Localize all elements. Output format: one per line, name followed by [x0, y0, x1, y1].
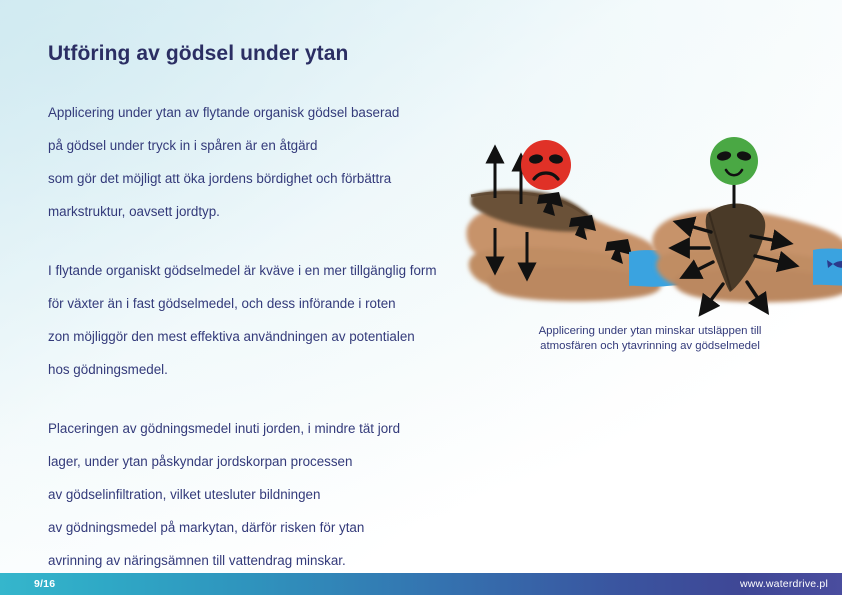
paragraph-1: Applicering under ytan av flytande organ… — [48, 96, 478, 228]
paragraph-line: Placeringen av gödningsmedel inuti jorde… — [48, 412, 478, 445]
paragraph-3: Placeringen av gödningsmedel inuti jorde… — [48, 412, 478, 577]
paragraph-line: på gödsel under tryck in i spåren är en … — [48, 129, 478, 162]
footer-website-link[interactable]: www.waterdrive.pl — [740, 578, 828, 590]
figure-caption: Applicering under ytan minskar utsläppen… — [470, 324, 830, 353]
page-title: Utföring av gödsel under ytan — [48, 42, 348, 66]
paragraph-line: som gör det möjligt att öka jordens börd… — [48, 162, 478, 195]
sad-face-icon — [521, 140, 571, 190]
caption-line-1: Applicering under ytan minskar utsläppen… — [470, 324, 830, 339]
paragraph-line: markstruktur, oavsett jordtyp. — [48, 195, 478, 228]
slide: Utföring av gödsel under ytan Applicerin… — [0, 0, 842, 595]
water-body-right — [813, 247, 842, 286]
paragraph-line: zon möjliggör den mest effektiva användn… — [48, 320, 478, 353]
happy-face-icon — [710, 137, 758, 185]
paragraph-2: I flytande organiskt gödselmedel är kväv… — [48, 254, 478, 386]
page-number: 9/16 — [34, 578, 55, 590]
footer-bar: 9/16 www.waterdrive.pl — [0, 573, 842, 595]
paragraph-line: Applicering under ytan av flytande organ… — [48, 96, 478, 129]
paragraph-line: för växter än i fast gödselmedel, och de… — [48, 287, 478, 320]
paragraph-line: av gödselinfiltration, vilket utesluter … — [48, 478, 478, 511]
body-text-column: Applicering under ytan av flytande organ… — [48, 96, 478, 577]
paragraph-line: hos gödningsmedel. — [48, 353, 478, 386]
paragraph-line: av gödningsmedel på markytan, därför ris… — [48, 511, 478, 544]
paragraph-line: lager, under ytan påskyndar jordskorpan … — [48, 445, 478, 478]
right-panel-subsurface-injection — [652, 137, 842, 308]
caption-line-2: atmosfären och ytavrinning av gödselmede… — [470, 339, 830, 354]
paragraph-line: I flytande organiskt gödselmedel är kväv… — [48, 254, 478, 287]
